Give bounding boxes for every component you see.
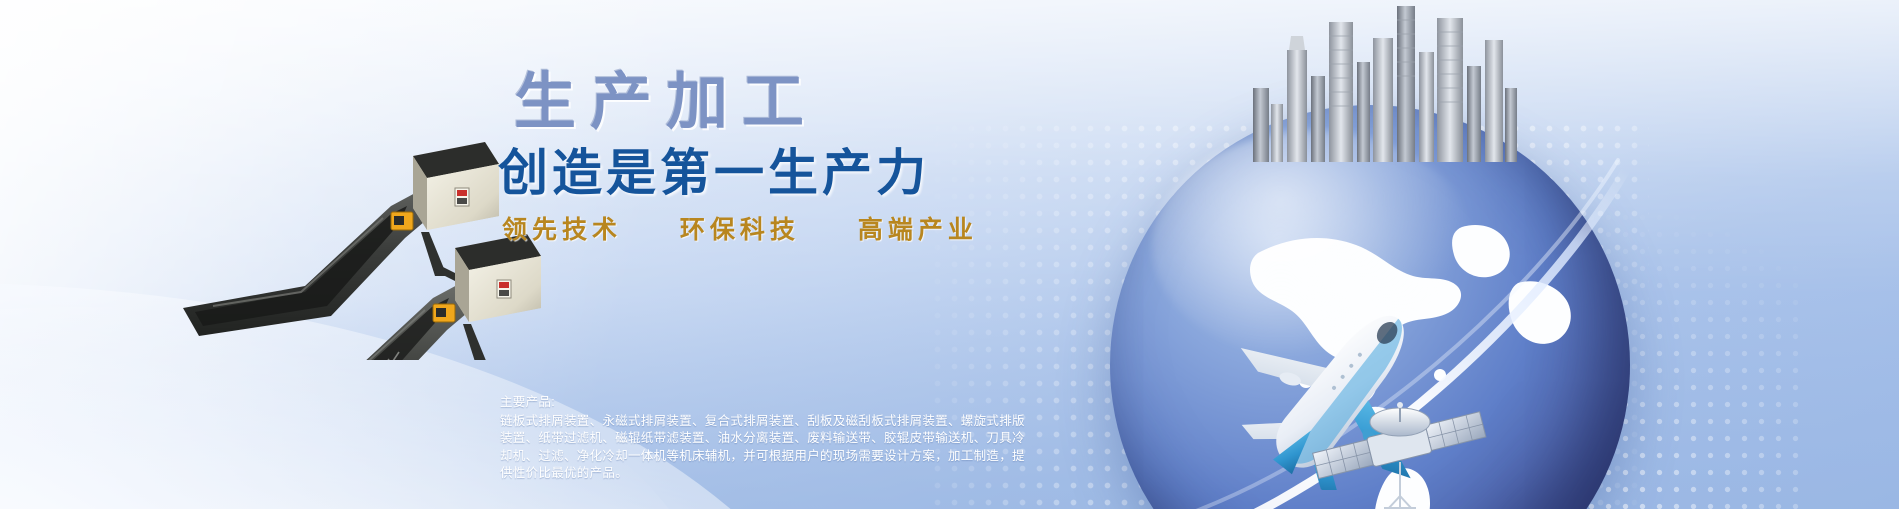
headline-block: 生产加工 创造是第一生产力 领先技术 环保科技 高端产业 <box>498 72 1058 246</box>
description-heading: 主要产品: <box>500 394 1140 412</box>
description-line: 链板式排屑装置、永磁式排屑装置、复合式排屑装置、刮板及磁刮板式排屑装置、螺旋式排… <box>500 413 1140 431</box>
description-line: 却机、过滤、净化冷却一体机等机床辅机，并可根据用户的现场需要设计方案，加工制造，… <box>500 448 1140 466</box>
description-line: 供性价比最优的产品。 <box>500 465 1140 483</box>
satellite-icon <box>1310 400 1490 509</box>
satellite-dish-graphic <box>1310 400 1490 509</box>
promotional-banner: 生产加工 创造是第一生产力 领先技术 环保科技 高端产业 主要产品: 链板式排屑… <box>0 0 1899 509</box>
tagline-item-2: 环保科技 <box>680 210 800 246</box>
tagline-row: 领先技术 环保科技 高端产业 <box>502 210 1058 246</box>
product-description: 主要产品: 链板式排屑装置、永磁式排屑装置、复合式排屑装置、刮板及磁刮板式排屑装… <box>500 394 1140 483</box>
description-line: 装置、纸带过滤机、磁辊纸带滤装置、油水分离装置、废料输送带、胶辊皮带输送机、刀具… <box>500 430 1140 448</box>
tagline-item-1: 领先技术 <box>502 210 622 246</box>
tagline-item-3: 高端产业 <box>858 210 978 246</box>
page-subtitle: 创造是第一生产力 <box>498 148 1058 198</box>
page-title: 生产加工 <box>514 72 1058 134</box>
chip-conveyor-machine-photo <box>155 120 555 360</box>
city-skyline-graphic <box>1245 0 1525 162</box>
skyline-icon <box>1245 0 1525 162</box>
conveyor-machines-icon <box>155 120 555 360</box>
